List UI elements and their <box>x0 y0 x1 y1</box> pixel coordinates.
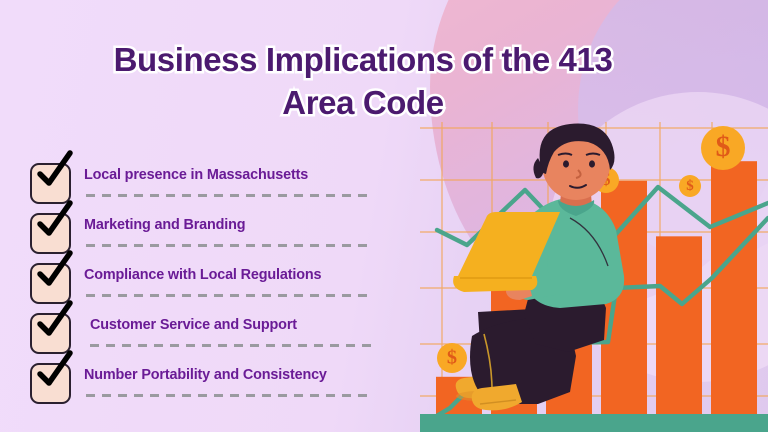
dashed-divider <box>90 344 372 347</box>
chart-bar <box>711 161 757 416</box>
coin-icon: $ <box>701 126 745 170</box>
chart-bar <box>656 236 702 416</box>
checkbox[interactable] <box>30 213 71 254</box>
growth-chart: $$$$ <box>420 108 768 432</box>
chart-baseline <box>420 414 768 432</box>
svg-text:$: $ <box>716 131 731 163</box>
dashed-divider <box>86 294 368 297</box>
checklist-item-label: Marketing and Branding <box>84 217 245 233</box>
checklist-item-label: Local presence in Massachusetts <box>84 167 308 183</box>
chart-bars <box>436 161 757 416</box>
chart-bar <box>601 181 647 416</box>
svg-text:$: $ <box>686 178 694 194</box>
dashed-divider <box>86 394 368 397</box>
checklist-item[interactable]: Marketing and Branding <box>28 208 448 258</box>
title-line-2: Area Code <box>40 81 686 124</box>
chart-bar <box>546 253 592 416</box>
title-line-1: Business Implications of the 413 <box>40 38 686 81</box>
dashed-divider <box>86 194 368 197</box>
page-title: Business Implications of the 413 Area Co… <box>40 38 686 124</box>
svg-text:$: $ <box>447 347 457 369</box>
chart-bar <box>491 279 537 416</box>
checklist-item-label: Customer Service and Support <box>90 317 297 333</box>
checklist-item[interactable]: Local presence in Massachusetts <box>28 158 448 208</box>
checklist-item[interactable]: Customer Service and Support <box>28 308 448 358</box>
dashed-divider <box>86 244 368 247</box>
checkbox[interactable] <box>30 363 71 404</box>
checkbox[interactable] <box>30 263 71 304</box>
checkbox[interactable] <box>30 313 71 354</box>
checklist-item[interactable]: Number Portability and Consistency <box>28 358 448 408</box>
checkbox[interactable] <box>30 163 71 204</box>
svg-text:$: $ <box>602 169 611 189</box>
checklist-item-label: Number Portability and Consistency <box>84 367 327 383</box>
checklist: Local presence in MassachusettsMarketing… <box>28 158 448 408</box>
checklist-item[interactable]: Compliance with Local Regulations <box>28 258 448 308</box>
poster-canvas: $$$$ <box>0 0 768 432</box>
checklist-item-label: Compliance with Local Regulations <box>84 267 321 283</box>
coin-icon: $ <box>679 175 701 197</box>
coin-icon: $ <box>593 167 619 193</box>
